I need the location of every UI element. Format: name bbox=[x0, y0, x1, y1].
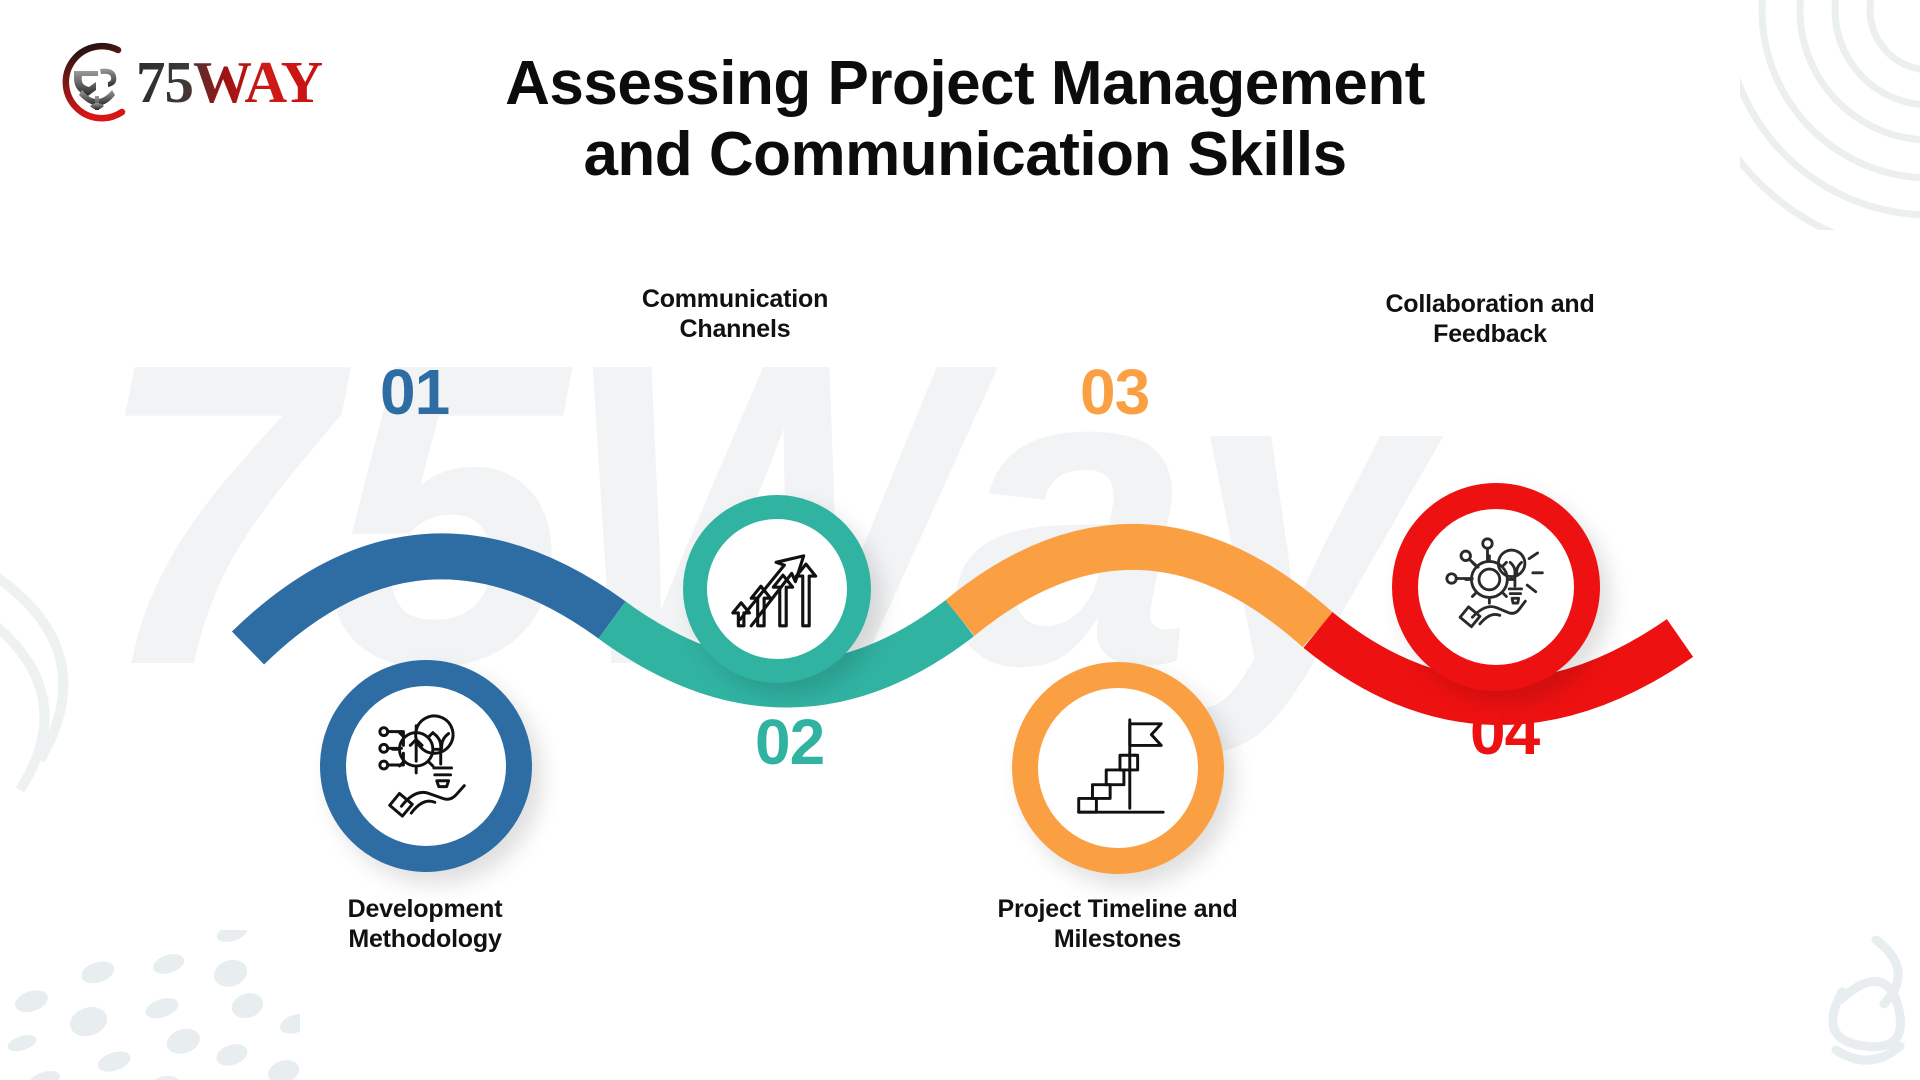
step-label-03-line1: Project Timeline and bbox=[945, 895, 1290, 925]
growth-arrows-chart-icon bbox=[731, 543, 823, 635]
step-node-03[interactable] bbox=[1012, 662, 1224, 874]
step-label-01-line1: Development bbox=[250, 895, 600, 925]
step-label-01-line2: Methodology bbox=[250, 925, 600, 955]
step-label-04-line2: Feedback bbox=[1305, 320, 1675, 350]
page-title-line1: Assessing Project Management bbox=[400, 48, 1530, 119]
step-label-02-line2: Channels bbox=[555, 315, 915, 345]
step-label-04: Collaboration and Feedback bbox=[1305, 290, 1675, 349]
hand-holding-gear-lightbulb-network-icon bbox=[1444, 535, 1548, 639]
page-title-line2: and Communication Skills bbox=[400, 119, 1530, 190]
step-label-01: Development Methodology bbox=[250, 895, 600, 954]
step-number-03: 03 bbox=[1080, 360, 1149, 424]
ribbon-blue bbox=[248, 556, 612, 648]
stairs-flag-milestone-icon bbox=[1068, 714, 1168, 822]
step-label-02: Communication Channels bbox=[555, 285, 915, 344]
hand-holding-lightbulb-gear-icon bbox=[372, 712, 480, 820]
ribbon-orange bbox=[960, 547, 1318, 630]
75way-eagle-circle-icon bbox=[52, 38, 142, 126]
step-number-02: 02 bbox=[755, 710, 824, 774]
process-flow: 01 Development Methodology Communication… bbox=[0, 300, 1920, 1020]
step-number-04: 04 bbox=[1470, 700, 1539, 764]
step-label-02-line1: Communication bbox=[555, 285, 915, 315]
step-node-02[interactable] bbox=[683, 495, 871, 683]
step-label-03-line2: Milestones bbox=[945, 925, 1290, 955]
brand-logo-text: 75WAY bbox=[136, 48, 322, 116]
step-number-01: 01 bbox=[380, 360, 449, 424]
step-label-03: Project Timeline and Milestones bbox=[945, 895, 1290, 954]
page-title: Assessing Project Management and Communi… bbox=[400, 48, 1530, 191]
brand-logo: 75WAY bbox=[52, 38, 352, 126]
step-node-01[interactable] bbox=[320, 660, 532, 872]
step-node-04[interactable] bbox=[1392, 483, 1600, 691]
header: 75WAY Assessing Project Management and C… bbox=[0, 0, 1920, 235]
step-label-04-line1: Collaboration and bbox=[1305, 290, 1675, 320]
